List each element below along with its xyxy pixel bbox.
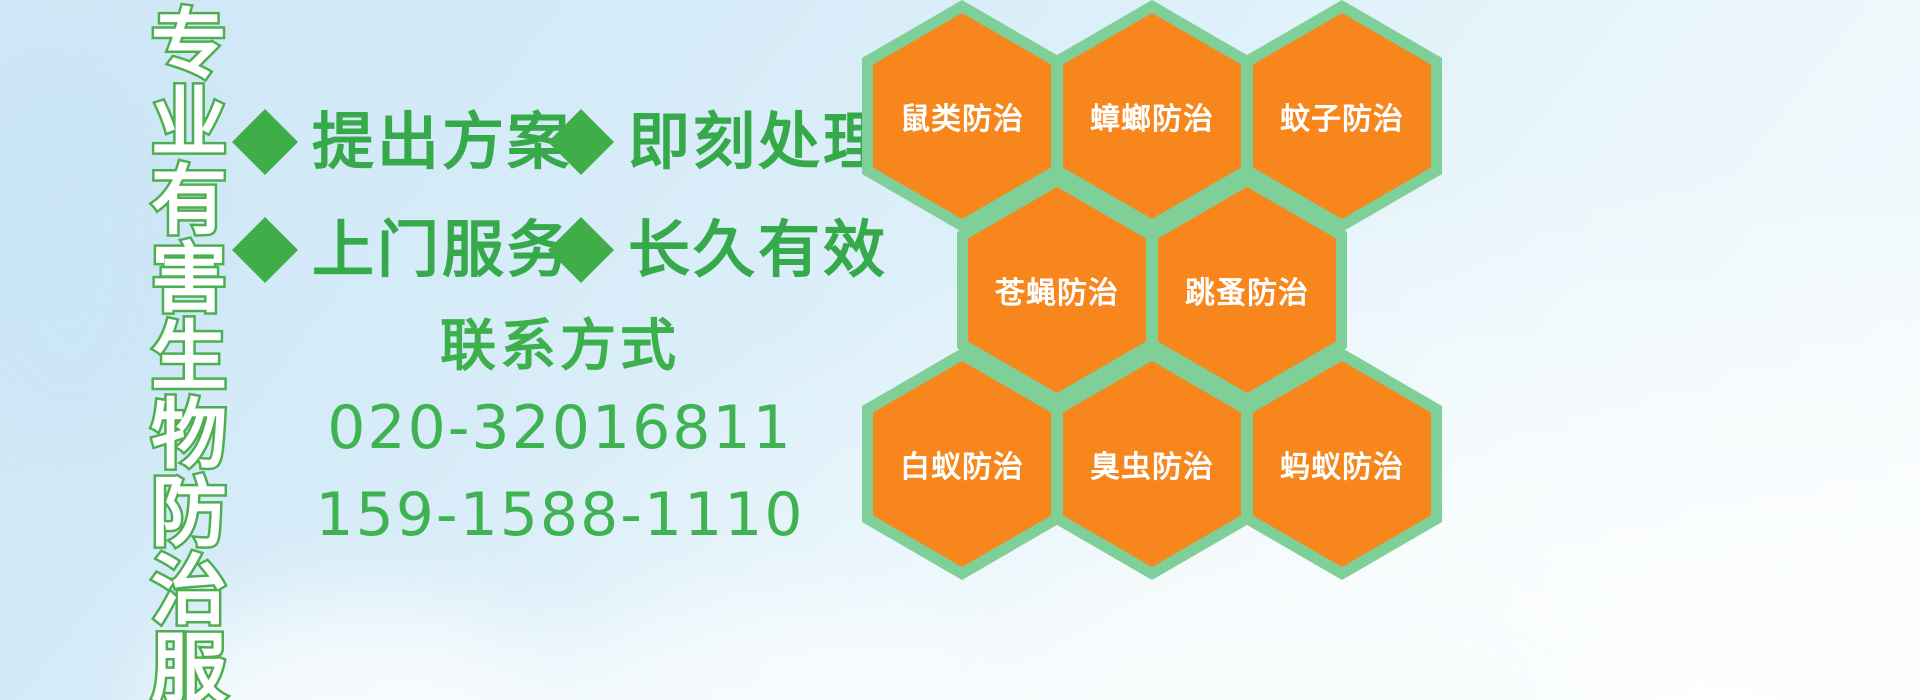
service-label: 鼠类防治 <box>900 94 1024 138</box>
feature-row: 提出方案 即刻处理 <box>232 88 872 196</box>
feature-list: 提出方案 即刻处理 上门服务 长久有效 <box>232 88 872 304</box>
contact-phone-landline[interactable]: 020-32016811 <box>280 388 840 469</box>
hexagon-shape: 白蚁防治 <box>862 348 1062 580</box>
diamond-bullet-icon <box>232 184 298 250</box>
feature-label: 上门服务 <box>312 219 572 281</box>
hexagon-shape: 蚂蚁防治 <box>1242 348 1442 580</box>
feature-item: 即刻处理 <box>548 109 888 175</box>
contact-title: 联系方式 <box>280 312 840 382</box>
feature-row: 上门服务 长久有效 <box>232 196 872 304</box>
diamond-bullet-icon <box>548 76 614 142</box>
hexagon-shape: 臭虫防治 <box>1052 348 1252 580</box>
contact-block: 联系方式 020-32016811 159-1588-1110 <box>280 312 840 556</box>
service-label: 蚂蚁防治 <box>1280 442 1404 486</box>
service-label: 苍蝇防治 <box>995 268 1119 312</box>
service-label: 跳蚤防治 <box>1185 268 1309 312</box>
feature-label: 即刻处理 <box>628 111 888 173</box>
hexagon-fill: 臭虫防治 <box>1063 361 1241 567</box>
service-hexagon[interactable]: 臭虫防治 <box>1052 348 1252 580</box>
feature-label: 长久有效 <box>628 219 888 281</box>
feature-label: 提出方案 <box>312 111 572 173</box>
service-hexagon[interactable]: 蚂蚁防治 <box>1242 348 1442 580</box>
diamond-bullet-icon <box>548 184 614 250</box>
pest-control-banner: 专业有害生物防治服务 提出方案 即刻处理 上门服务 长久有效 联 <box>0 0 1920 700</box>
service-hexagon[interactable]: 白蚁防治 <box>862 348 1062 580</box>
contact-phone-mobile[interactable]: 159-1588-1110 <box>280 475 840 556</box>
service-label: 蟑螂防治 <box>1090 94 1214 138</box>
diamond-bullet-icon <box>232 76 298 142</box>
feature-item: 上门服务 <box>232 217 548 283</box>
vertical-headline: 专业有害生物防治服务 <box>108 4 220 700</box>
feature-item: 长久有效 <box>548 217 888 283</box>
feature-item: 提出方案 <box>232 109 548 175</box>
service-label: 白蚁防治 <box>900 442 1024 486</box>
service-label: 臭虫防治 <box>1090 442 1214 486</box>
hexagon-fill: 蚂蚁防治 <box>1253 361 1431 567</box>
hexagon-fill: 白蚁防治 <box>873 361 1051 567</box>
service-label: 蚊子防治 <box>1280 94 1404 138</box>
service-hexagon-grid: 鼠类防治 蟑螂防治 蚊子防治 苍蝇防治 <box>862 0 1502 700</box>
